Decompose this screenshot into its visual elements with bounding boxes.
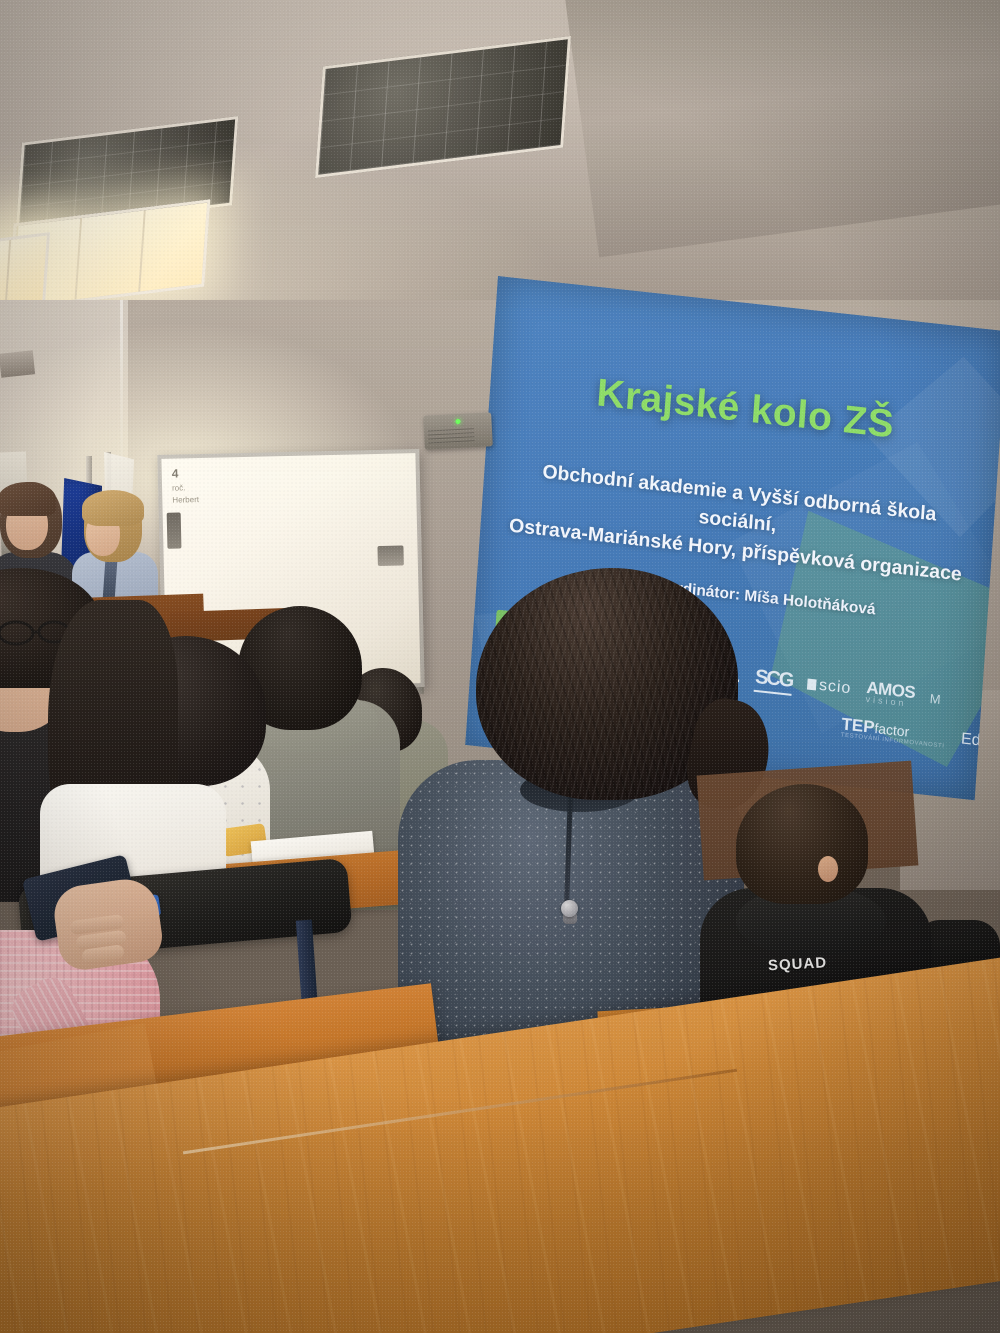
partner-mini-logo: M — [929, 690, 941, 706]
whiteboard-note-line-2: Herbert — [172, 493, 252, 507]
wall-sensor-device — [423, 412, 493, 450]
whiteboard-eraser — [377, 545, 403, 566]
wall-sensor-led-icon — [455, 419, 460, 424]
classroom-photo: Krajské kolo ZŠ Obchodní akademie a Vyšš… — [0, 0, 1000, 1333]
boy-hoodie-hair — [736, 784, 868, 904]
slide-title: Krajské kolo ZŠ — [489, 360, 1000, 459]
wall-vent — [0, 350, 35, 377]
pink-sweater-hand — [51, 875, 166, 973]
scio-logo: scio — [806, 676, 851, 699]
boy-hoodie-ear — [818, 856, 838, 882]
whiteboard-note-heading: 4 — [172, 467, 179, 481]
tepfactor-logo: TEPfactor TESTOVÁNÍ INFORMOVANOSTI — [841, 714, 946, 749]
standing-boy-hair — [82, 490, 144, 526]
whiteboard-marker-holder — [167, 512, 182, 548]
amos-vision-logo: AMOS vision — [865, 678, 916, 709]
wall-sensor-vent — [428, 425, 475, 443]
central-woman-drawstring-bead — [561, 900, 578, 917]
whiteboard-note: 4 roč. Herbert — [172, 463, 253, 507]
standing-girl-hair — [0, 482, 56, 516]
scg-logo: SCG — [754, 666, 793, 696]
scio-logo-text: scio — [818, 677, 851, 697]
